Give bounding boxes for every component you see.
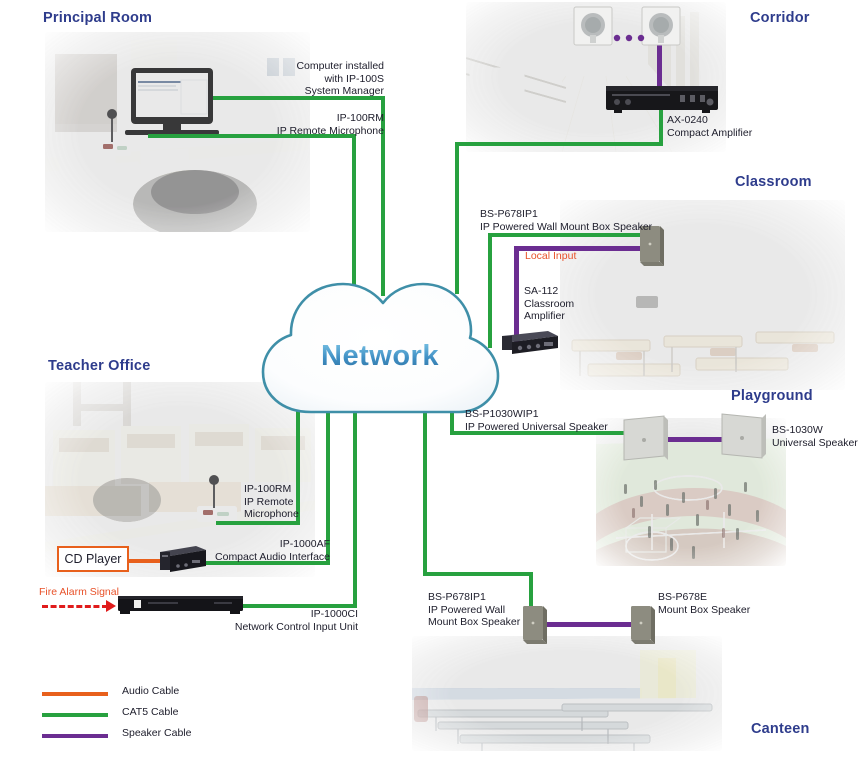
legend-label-speaker-cable: Speaker Cable <box>122 727 191 739</box>
legend-label-cat5-cable: CAT5 Cable <box>122 706 178 718</box>
bs-1030w-playground-speaker <box>720 412 766 460</box>
network-cloud: Network <box>255 262 505 422</box>
cable-cat5-ip1000ci-vertical <box>353 406 357 608</box>
label-bs-p678ip1-canteen: BS-P678IP1 IP Powered Wall Mount Box Spe… <box>428 591 532 629</box>
cable-cat5-ip100rm-teacher-horizontal <box>216 521 300 525</box>
label-computer-system-manager: Computer installed with IP-100S System M… <box>238 60 384 98</box>
cable-speaker-playground <box>663 437 725 442</box>
corridor-wall-speaker-right <box>641 6 681 46</box>
zone-title-playground: Playground <box>731 388 813 404</box>
label-ip100rm-principal: IP-100RM IP Remote Microphone <box>228 112 384 137</box>
ax0240-amplifier <box>606 86 718 114</box>
cable-cat5-classroom-horizontal <box>488 233 651 237</box>
label-local-input: Local Input <box>525 250 615 263</box>
fire-alarm-dashed-line <box>42 605 108 608</box>
label-fire-alarm-signal: Fire Alarm Signal <box>39 586 149 599</box>
label-bs-p678e: BS-P678E Mount Box Speaker <box>658 591 778 616</box>
cable-cat5-ax0240-horizontal <box>455 142 663 146</box>
network-diagram-canvas: CD Player Network Principal Room Corrido… <box>0 0 863 757</box>
zone-title-teacher-office: Teacher Office <box>48 358 150 374</box>
cable-cat5-canteen-vertical-upper <box>423 408 427 576</box>
zone-title-classroom: Classroom <box>735 174 812 190</box>
legend-swatch-speaker-cable <box>42 734 108 738</box>
bs-p678e-canteen-speaker <box>631 606 655 644</box>
label-bs-p1030wip1: BS-P1030WIP1 IP Powered Universal Speake… <box>465 408 665 433</box>
zone-title-principal-room: Principal Room <box>43 10 152 26</box>
label-sa112: SA-112 Classroom Amplifier <box>524 285 604 323</box>
label-bs-p678ip1-classroom: BS-P678IP1 IP Powered Wall Mount Box Spe… <box>480 208 690 233</box>
canteen-photo <box>412 636 722 751</box>
label-ip100rm-teacher: IP-100RM IP Remote Microphone <box>244 483 334 521</box>
label-ip1000af: IP-1000AF Compact Audio Interface <box>188 538 330 563</box>
cable-cat5-canteen-horizontal <box>423 572 533 576</box>
zone-title-corridor: Corridor <box>750 10 810 26</box>
legend-swatch-audio-cable <box>42 692 108 696</box>
cd-player-box: CD Player <box>57 546 129 572</box>
network-cloud-label: Network <box>255 340 505 373</box>
cd-player-label: CD Player <box>65 552 122 566</box>
label-bs-1030w: BS-1030W Universal Speaker <box>772 424 863 449</box>
legend-swatch-cat5-cable <box>42 713 108 717</box>
cable-speaker-canteen <box>545 622 635 627</box>
corridor-speaker-dots <box>612 30 646 40</box>
fire-alarm-arrowhead <box>106 600 116 612</box>
zone-title-canteen: Canteen <box>751 721 810 737</box>
sa112-amplifier <box>498 328 558 356</box>
label-ip1000ci: IP-1000CI Network Control Input Unit <box>200 608 358 633</box>
corridor-wall-speaker-left <box>573 6 613 46</box>
cable-audio-cdplayer <box>128 559 164 563</box>
label-ax0240: AX-0240 Compact Amplifier <box>667 114 797 139</box>
legend-label-audio-cable: Audio Cable <box>122 685 179 697</box>
